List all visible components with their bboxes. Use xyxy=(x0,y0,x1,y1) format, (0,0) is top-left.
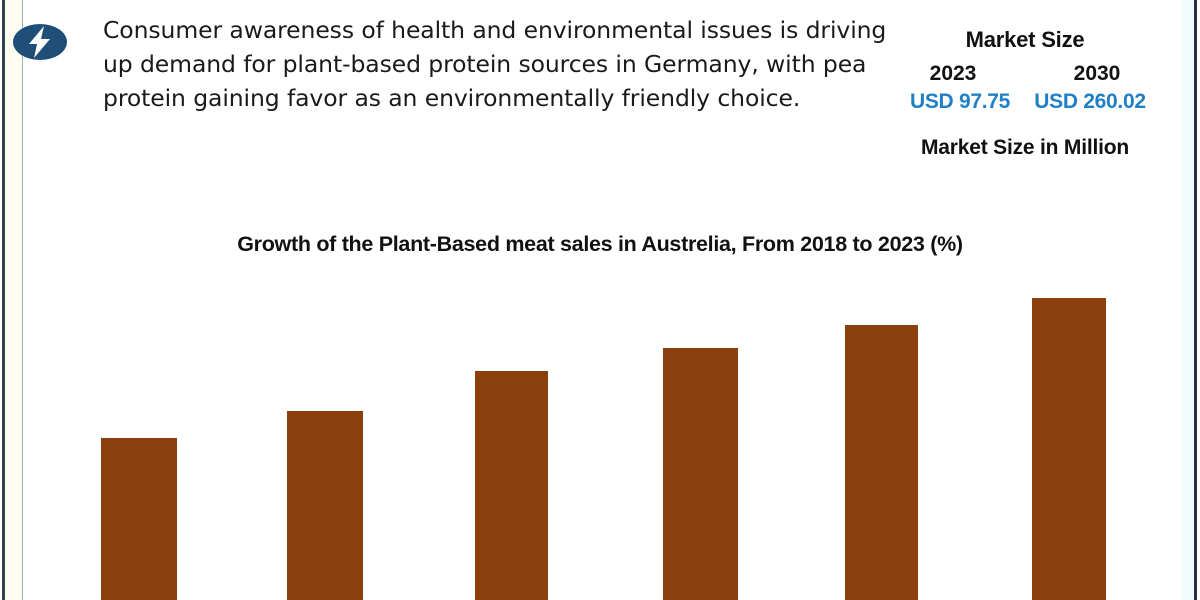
bar-2020 xyxy=(475,371,548,600)
infographic-slide: Consumer awareness of health and environ… xyxy=(0,0,1200,600)
market-size-block: Market Size 2023 2030 USD 97.75 USD 260.… xyxy=(890,26,1160,160)
bar-2022 xyxy=(845,325,918,600)
bar-2019 xyxy=(287,411,363,600)
market-size-years-row: 2023 2030 xyxy=(890,62,1160,86)
right-accent-band xyxy=(1182,0,1194,600)
intro-paragraph: Consumer awareness of health and environ… xyxy=(103,13,893,115)
market-value-2030: USD 260.02 xyxy=(1031,90,1149,114)
bar-chart-plot-area xyxy=(80,285,1140,600)
bar-2023 xyxy=(1032,298,1106,600)
lightning-bolt-logo-icon xyxy=(12,21,68,63)
market-size-unit-label: Market Size in Million xyxy=(890,136,1160,160)
market-year-2030: 2030 xyxy=(1045,62,1149,86)
bar-2021 xyxy=(663,348,738,600)
chart-title: Growth of the Plant-Based meat sales in … xyxy=(0,232,1200,257)
left-accent-band xyxy=(5,0,22,600)
market-size-heading: Market Size xyxy=(890,26,1160,54)
market-size-values-row: USD 97.75 USD 260.02 xyxy=(890,90,1160,114)
bar-2018 xyxy=(101,438,177,600)
market-year-2023: 2023 xyxy=(901,62,1005,86)
market-value-2023: USD 97.75 xyxy=(901,90,1019,114)
left-border-inner-rule xyxy=(22,0,23,600)
right-border-rule xyxy=(1194,0,1197,600)
